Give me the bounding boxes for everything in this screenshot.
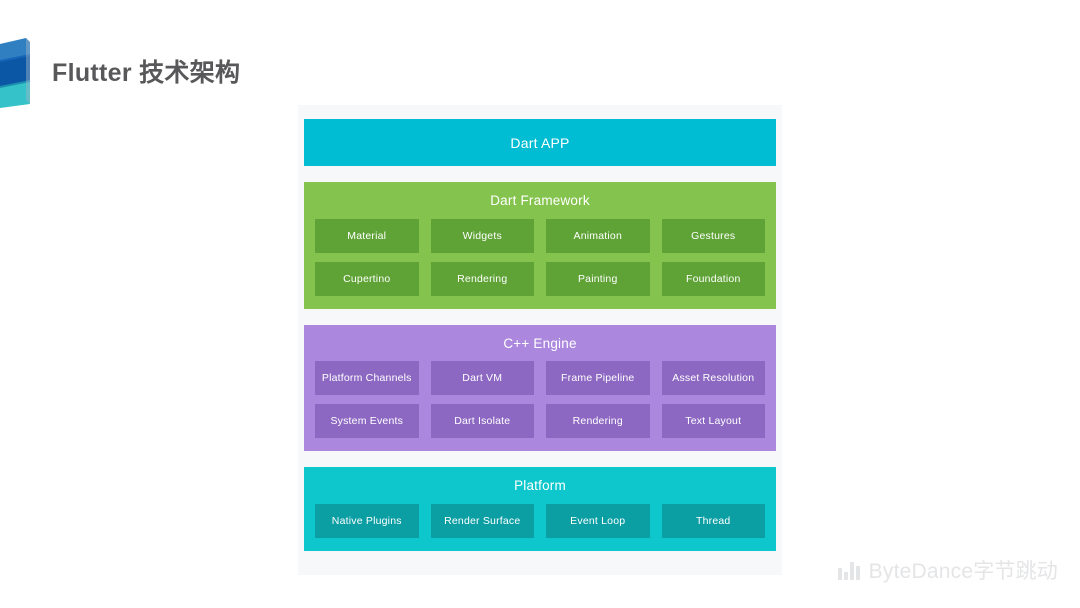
- layer-cell: Material: [315, 219, 419, 253]
- layer-cell: Painting: [546, 262, 650, 296]
- layer-cell: Foundation: [662, 262, 766, 296]
- layer-cell: Rendering: [431, 262, 535, 296]
- layer-title: Dart Framework: [315, 194, 765, 208]
- layer-title: Platform: [315, 479, 765, 493]
- layer-cpp-engine: C++ Engine Platform Channels Dart VM Fra…: [304, 325, 776, 452]
- bytedance-watermark: ByteDance字节跳动: [838, 555, 1058, 585]
- layer-cell: Asset Resolution: [662, 361, 766, 395]
- layer-cell-grid: Material Widgets Animation Gestures Cupe…: [315, 219, 765, 296]
- layer-platform: Platform Native Plugins Render Surface E…: [304, 467, 776, 551]
- layer-cell: Render Surface: [431, 504, 535, 538]
- architecture-diagram: Dart APP Dart Framework Material Widgets…: [298, 105, 782, 575]
- layer-dart-app: Dart APP: [304, 119, 776, 166]
- layer-cell: Widgets: [431, 219, 535, 253]
- brand-logo: [0, 38, 34, 108]
- layer-cell-grid: Platform Channels Dart VM Frame Pipeline…: [315, 361, 765, 438]
- layer-cell: Dart VM: [431, 361, 535, 395]
- bar-chart-icon: [838, 560, 860, 580]
- layer-cell: Cupertino: [315, 262, 419, 296]
- watermark-label: ByteDance字节跳动: [869, 555, 1058, 585]
- layer-cell: Platform Channels: [315, 361, 419, 395]
- layer-title: C++ Engine: [315, 337, 765, 351]
- layer-dart-framework: Dart Framework Material Widgets Animatio…: [304, 182, 776, 309]
- layer-cell: Gestures: [662, 219, 766, 253]
- layer-cell: Rendering: [546, 404, 650, 438]
- layer-cell: Thread: [662, 504, 766, 538]
- layered-cube-logo: [0, 38, 34, 108]
- layer-cell: Native Plugins: [315, 504, 419, 538]
- layer-cell: Animation: [546, 219, 650, 253]
- layer-cell-grid: Native Plugins Render Surface Event Loop…: [315, 504, 765, 538]
- layer-cell: Event Loop: [546, 504, 650, 538]
- layer-cell: Dart Isolate: [431, 404, 535, 438]
- page-title: Flutter 技术架构: [52, 53, 240, 89]
- layer-title: Dart APP: [510, 136, 569, 150]
- layer-cell: System Events: [315, 404, 419, 438]
- layer-cell: Text Layout: [662, 404, 766, 438]
- layer-cell: Frame Pipeline: [546, 361, 650, 395]
